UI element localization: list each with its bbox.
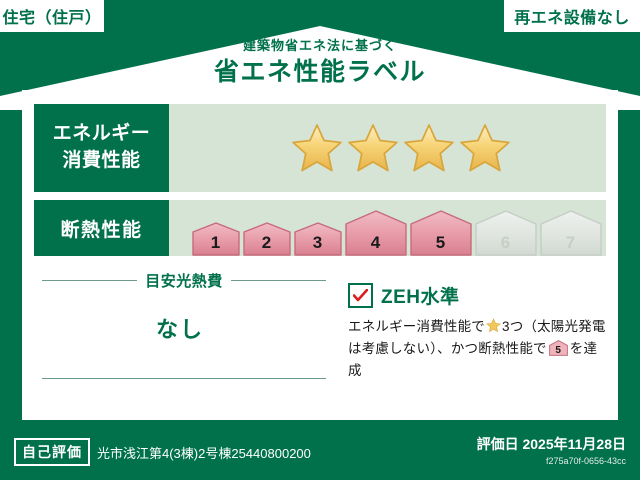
star-icon	[347, 122, 399, 174]
title-subtitle: 建築物省エネ法に基づく	[0, 38, 640, 55]
zeh-title: ZEH水準	[381, 282, 460, 309]
insulation-level-number: 3	[294, 234, 342, 251]
footer: 自己評価 光市浅江第4(3棟)2号棟25440800200 評価日 2025年1…	[0, 424, 640, 480]
house-icon-inline: 5	[549, 340, 568, 356]
insulation-level-number: 7	[540, 234, 602, 251]
insulation-level-number: 4	[345, 234, 407, 251]
star-rating	[169, 122, 606, 174]
energy-label-line1: エネルギー	[53, 121, 151, 148]
zeh-desc-star-count: 3つ（太陽光発電	[502, 319, 606, 334]
zeh-desc-part2: は考慮しない）、かつ断熱性能で	[348, 341, 547, 356]
insulation-level-3: 3	[294, 222, 342, 256]
zeh-heading: ZEH水準	[348, 282, 606, 309]
page-title: 建築物省エネ法に基づく 省エネ性能ラベル	[0, 38, 640, 90]
insulation-level-number: 6	[475, 234, 537, 251]
zeh-description: エネルギー消費性能で3つ（太陽光発電 は考慮しない）、かつ断熱性能で5を達成	[348, 316, 606, 382]
insulation-level-7: 7	[540, 210, 602, 256]
zeh-desc-part1: エネルギー消費性能で	[348, 319, 485, 334]
insulation-level-2: 2	[243, 222, 291, 256]
insulation-level-1: 1	[192, 222, 240, 256]
insulation-level-number: 5	[410, 234, 472, 251]
insulation-level-number: 2	[243, 234, 291, 251]
insulation-level-6: 6	[475, 210, 537, 256]
utility-cost-divider	[42, 378, 326, 379]
footer-left: 自己評価 光市浅江第4(3棟)2号棟25440800200	[14, 438, 311, 466]
star-icon	[291, 122, 343, 174]
badge-housing-type: 住宅（住戸）	[0, 0, 104, 32]
rule-right	[231, 280, 326, 281]
insulation-level-4: 4	[345, 210, 407, 256]
badge-renewable-energy: 再エネ設備なし	[504, 0, 640, 32]
energy-performance-label: 住宅（住戸） 再エネ設備なし 建築物省エネ法に基づく 省エネ性能ラベル エネルギ…	[0, 0, 640, 480]
utility-cost-heading-text: 目安光熱費	[145, 270, 223, 291]
label-card: エネルギー 消費性能 断熱性能 1234567 目安光熱費 なし	[22, 90, 618, 420]
insulation-performance-row: 断熱性能 1234567	[34, 200, 606, 256]
energy-label-line2: 消費性能	[62, 148, 140, 175]
check-icon	[348, 283, 373, 308]
lower-section: 目安光熱費 なし ZEH水準 エネルギー消費性能で3つ（太陽光発電	[34, 266, 606, 408]
insulation-level-scale: 1234567	[169, 200, 606, 256]
building-identifier: 光市浅江第4(3棟)2号棟25440800200	[97, 443, 311, 462]
insulation-level-5: 5	[410, 210, 472, 256]
star-icon	[403, 122, 455, 174]
document-uid: f275a70f-0656-43cc	[477, 456, 626, 466]
insulation-performance-label: 断熱性能	[34, 200, 169, 256]
house-icon-number: 5	[549, 346, 568, 356]
utility-cost-block: 目安光熱費 なし	[34, 266, 334, 408]
self-evaluation-badge: 自己評価	[14, 438, 90, 466]
energy-performance-label: エネルギー 消費性能	[34, 104, 169, 192]
insulation-level-number: 1	[192, 234, 240, 251]
title-main: 省エネ性能ラベル	[0, 56, 640, 90]
energy-performance-row: エネルギー 消費性能	[34, 104, 606, 192]
utility-cost-heading: 目安光熱費	[42, 270, 326, 291]
footer-right: 評価日 2025年11月28日 f275a70f-0656-43cc	[477, 434, 626, 466]
rule-left	[42, 280, 137, 281]
utility-cost-value: なし	[34, 312, 326, 344]
star-icon-inline	[486, 318, 501, 333]
zeh-block: ZEH水準 エネルギー消費性能で3つ（太陽光発電 は考慮しない）、かつ断熱性能で…	[334, 266, 606, 408]
evaluation-date: 評価日 2025年11月28日	[477, 434, 626, 454]
star-icon	[459, 122, 511, 174]
